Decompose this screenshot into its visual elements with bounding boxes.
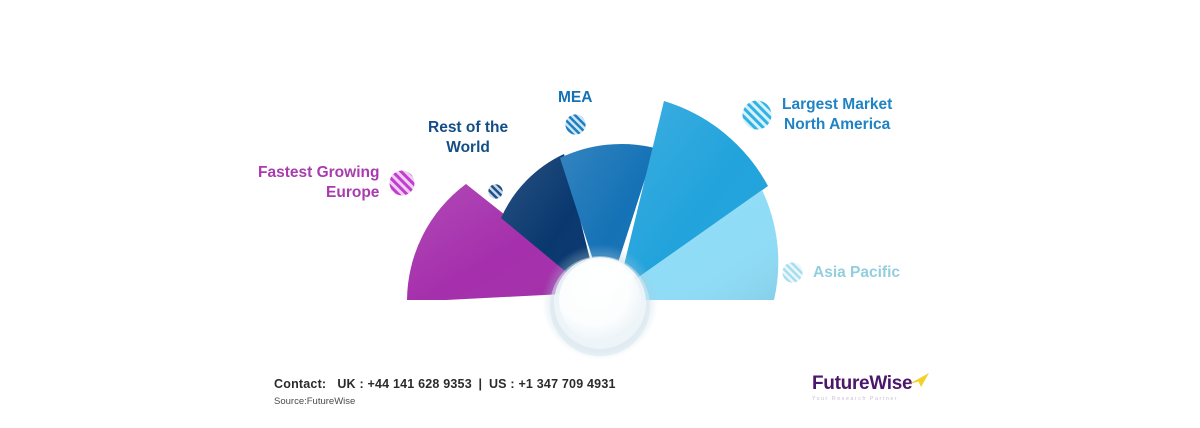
regional-market-fan-chart: Fastest Growing Europe Rest of the World… (0, 0, 1200, 380)
legend-north-america-text: Largest Market North America (782, 95, 892, 135)
chart-center-hub (542, 244, 658, 360)
legend-mea[interactable]: MEA (558, 88, 592, 135)
fan-chart-svg (0, 0, 1200, 380)
legend-na-line2: North America (782, 115, 892, 135)
logo-tagline: Your Research Partner (812, 396, 932, 402)
legend-europe-line2: Europe (258, 183, 379, 203)
legend-north-america[interactable]: Largest Market North America (742, 95, 892, 135)
futurewise-logo[interactable]: FutureWise Your Research Partner (812, 374, 932, 408)
contact-separator: | (476, 377, 486, 391)
footer: Contact: UK : +44 141 628 9353 | US : +1… (0, 368, 1200, 428)
logo-name-part2: Wise (869, 373, 912, 394)
legend-asia-pacific-swatch-icon (782, 262, 803, 283)
legend-europe-text: Fastest Growing Europe (258, 163, 379, 203)
legend-mea-text: MEA (558, 88, 592, 108)
legend-rest-of-world-swatch-icon (488, 184, 503, 199)
legend-asia-pacific[interactable]: Asia Pacific (782, 262, 900, 283)
logo-name-part1: Future (812, 373, 869, 394)
legend-apac-line1: Asia Pacific (813, 263, 900, 283)
us-phone[interactable]: +1 347 709 4931 (518, 377, 615, 391)
legend-rest-of-world[interactable]: Rest of the World (428, 118, 508, 158)
legend-north-america-swatch-icon (742, 100, 772, 130)
logo-swoosh-icon (908, 372, 930, 388)
contact-line: Contact: UK : +44 141 628 9353 | US : +1… (274, 377, 616, 391)
uk-phone[interactable]: +44 141 628 9353 (368, 377, 472, 391)
legend-row-line1: Rest of the (428, 118, 508, 138)
uk-label: UK : (337, 377, 364, 391)
legend-europe-swatch-icon (389, 170, 415, 196)
legend-mea-swatch-icon (565, 114, 586, 135)
legend-row-line2: World (428, 138, 508, 158)
legend-mea-line1: MEA (558, 88, 592, 108)
legend-na-line1: Largest Market (782, 95, 892, 115)
us-label: US : (489, 377, 515, 391)
legend-europe-line1: Fastest Growing (258, 163, 379, 183)
legend-asia-pacific-text: Asia Pacific (813, 263, 900, 283)
legend-rest-of-world-text: Rest of the World (428, 118, 508, 158)
contact-label: Contact: (274, 377, 326, 391)
source-line: Source:FutureWise (274, 396, 355, 407)
legend-europe[interactable]: Fastest Growing Europe (258, 163, 415, 203)
